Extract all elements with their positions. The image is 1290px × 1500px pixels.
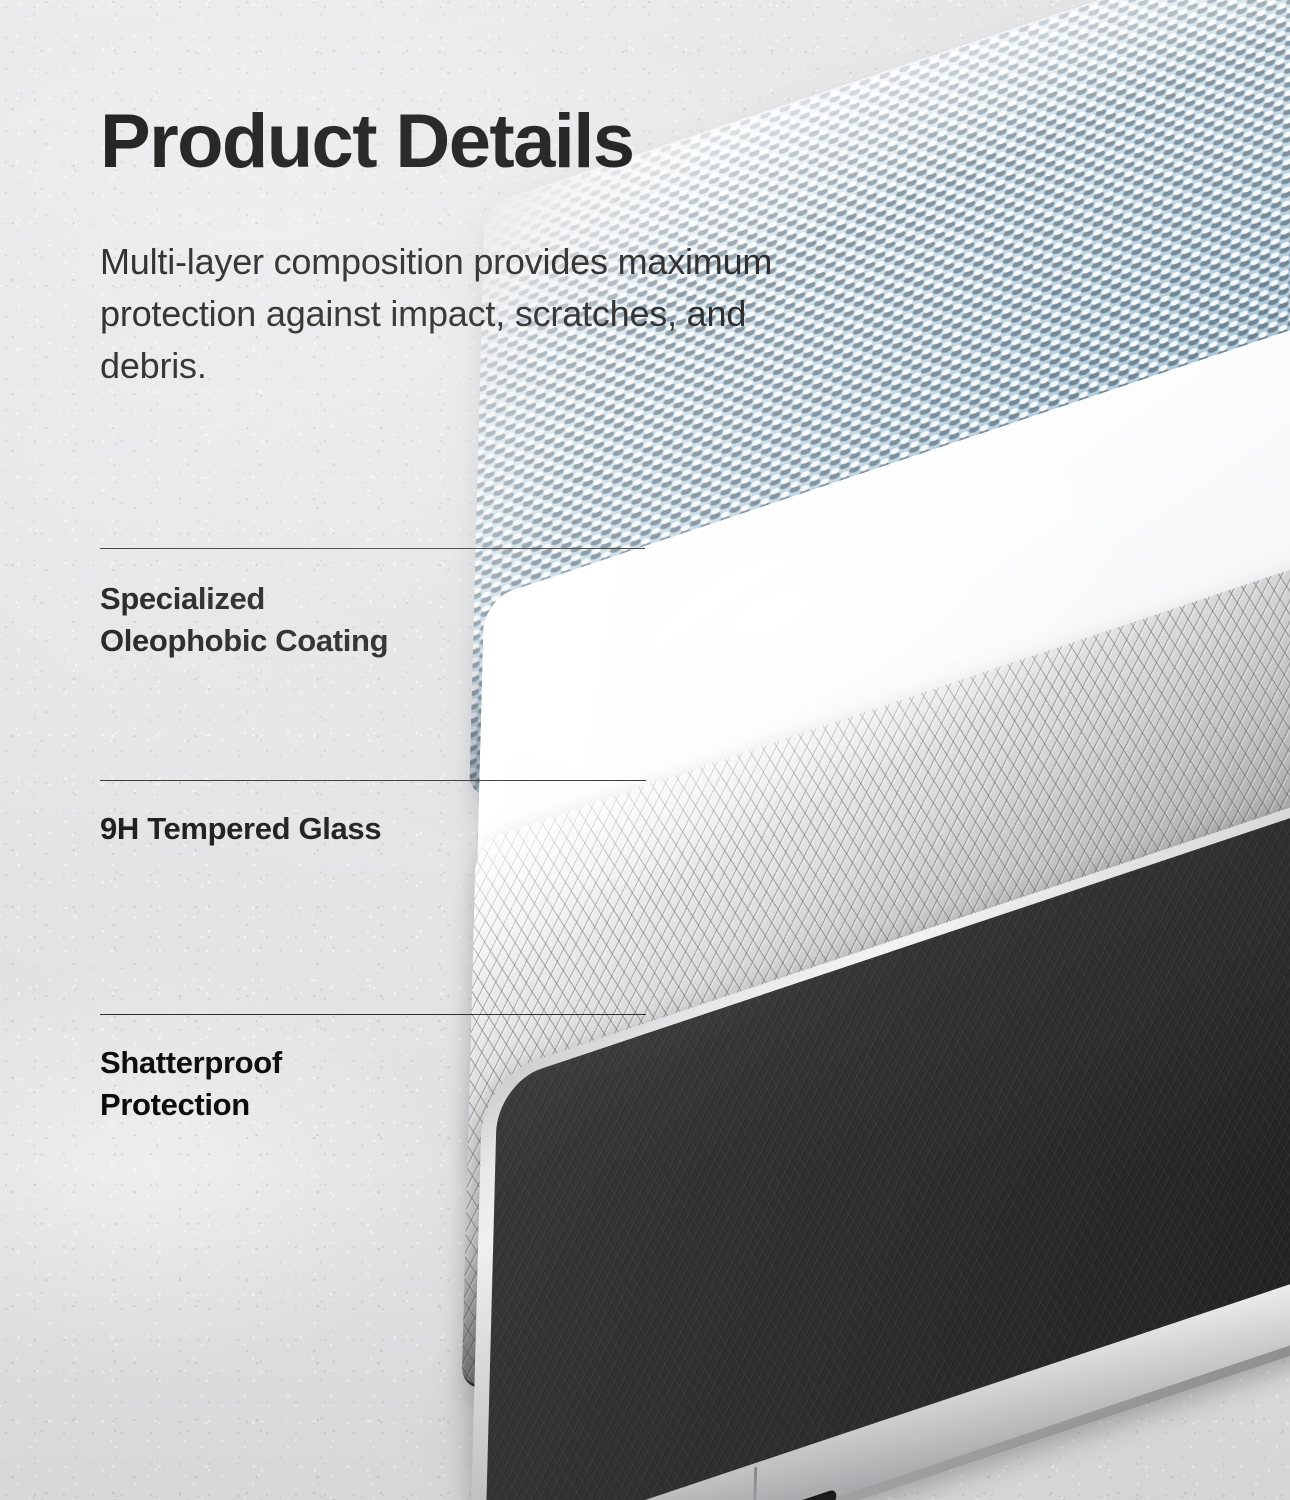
- callout-rule: [100, 1014, 646, 1015]
- product-details-graphic: Product Details Multi-layer composition …: [0, 0, 1290, 1500]
- callout-rule: [100, 548, 645, 549]
- callout-rule: [100, 780, 646, 781]
- page-title: Product Details: [100, 104, 633, 180]
- page-subtitle: Multi-layer composition provides maximum…: [100, 236, 860, 392]
- callout-label: Specialized Oleophobic Coating: [100, 578, 660, 662]
- callout-label: Shatterproof Protection: [100, 1042, 660, 1126]
- callout-label: 9H Tempered Glass: [100, 808, 660, 850]
